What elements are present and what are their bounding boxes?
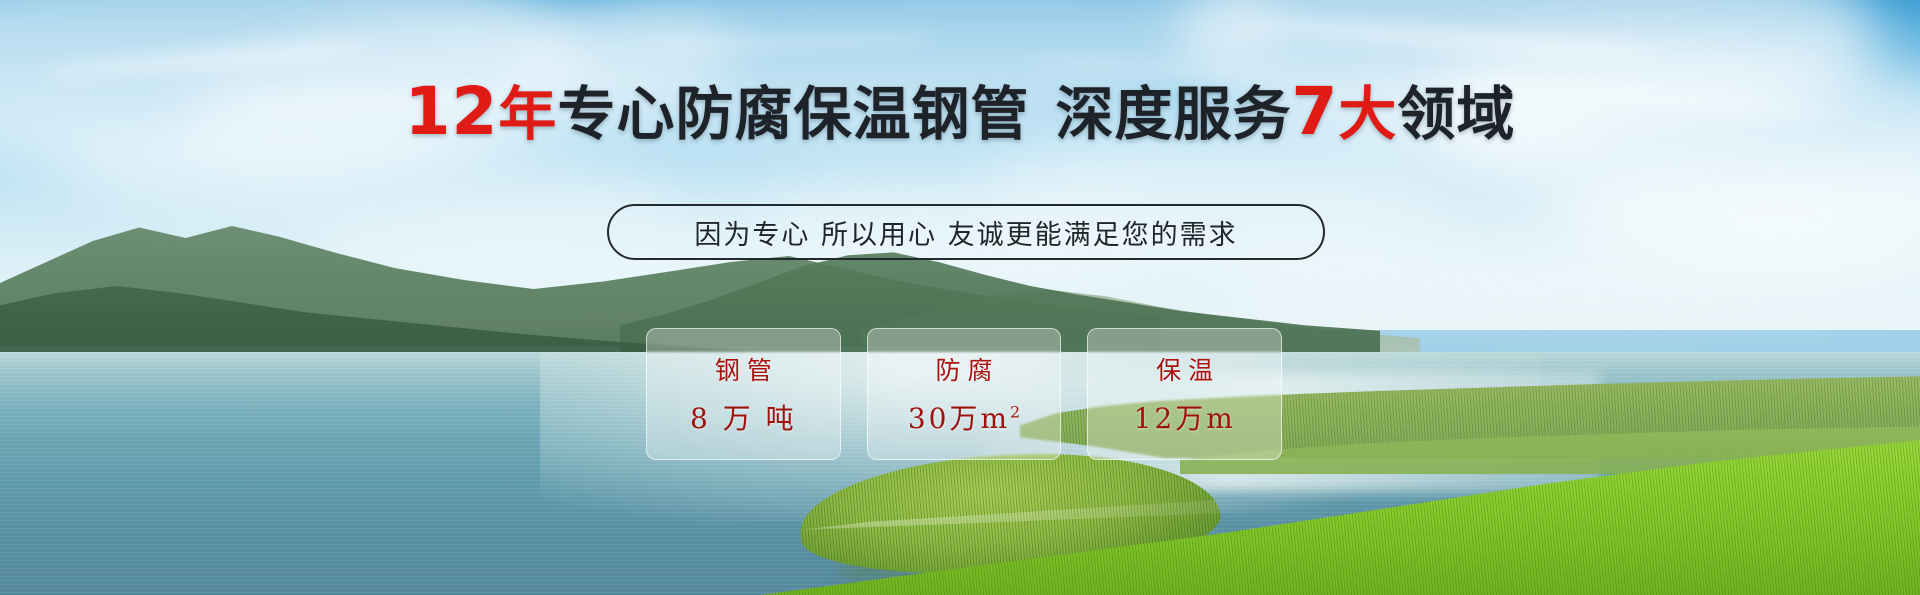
stat-card-value: 12万m [1134,397,1236,437]
headline-segment-fields: 领域 [1397,80,1515,148]
stat-card-value-exponent: 2 [1010,403,1020,422]
hero-banner: 12年专心防腐保温钢管深度服务7大领域 因为专心 所以用心 友诚更能满足您的需求… [0,0,1920,595]
stat-card-title: 防腐 [929,351,1000,387]
headline-fields-unit: 大 [1338,80,1397,148]
banner-headline: 12年专心防腐保温钢管深度服务7大领域 [0,82,1920,144]
subtitle-text: 因为专心 所以用心 友诚更能满足您的需求 [694,213,1237,252]
stat-card-value-text: 30万m [908,402,1010,435]
headline-years-number: 12 [405,73,499,150]
stat-card-title: 钢管 [708,351,779,387]
stat-card-insulation[interactable]: 保温 12万m [1087,328,1282,460]
subtitle-pill: 因为专心 所以用心 友诚更能满足您的需求 [607,204,1325,260]
headline-fields-number: 7 [1291,73,1338,150]
stat-card-value: 8 万 吨 [690,397,797,437]
stat-card-steel-pipe[interactable]: 钢管 8 万 吨 [646,328,841,460]
sky-background [0,0,1920,330]
stat-card-title: 保温 [1149,351,1220,387]
stat-card-group: 钢管 8 万 吨 防腐 30万m2 保温 12万m [646,328,1282,460]
headline-segment-primary: 专心防腐保温钢管 [557,80,1029,148]
stat-card-value: 30万m2 [908,397,1020,437]
headline-segment-service: 深度服务 [1055,80,1291,148]
headline-years-unit: 年 [498,80,557,148]
stat-card-value-text: 8 万 吨 [690,402,797,435]
stat-card-value-text: 12万m [1134,402,1236,435]
stat-card-anticorrosion[interactable]: 防腐 30万m2 [867,328,1062,460]
